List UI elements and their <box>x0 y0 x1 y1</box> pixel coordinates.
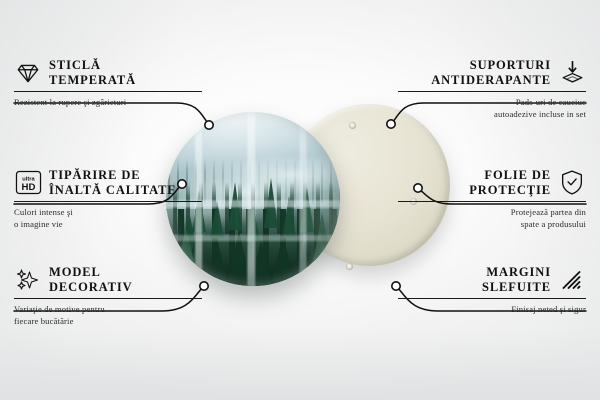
feature-subtitle: Protejează partea dinspate a produsului <box>398 206 586 230</box>
rubber-foot-pad <box>349 122 356 129</box>
press-pad-icon <box>558 59 586 87</box>
feature-subtitle: Rezistent la rupere şi zgârieturi <box>14 96 202 108</box>
sparkles-icon <box>14 266 42 294</box>
feature-title: MARGINISLEFUITE <box>482 265 551 295</box>
feature-title: FOLIE DEPROTECŢIE <box>469 168 551 198</box>
ultra-hd-icon: ultra HD <box>14 169 42 197</box>
feature-title: SUPORTURIANTIDERAPANTE <box>431 58 551 88</box>
feature-header: SUPORTURIANTIDERAPANTE <box>398 58 586 88</box>
feature-divider <box>398 91 586 92</box>
feature-header: FOLIE DEPROTECŢIE <box>398 168 586 198</box>
rubber-foot-pad <box>346 263 353 270</box>
feature-protective-film: FOLIE DEPROTECŢIE Protejează partea dins… <box>398 168 586 230</box>
feature-subtitle: Pads-uri de cauciucautoadezive incluse i… <box>398 96 586 120</box>
feature-divider <box>398 298 586 299</box>
diagonal-lines-icon <box>558 266 586 294</box>
feature-header: MARGINISLEFUITE <box>398 265 586 295</box>
feature-subtitle: Finisaj neted şi sigur <box>398 303 586 315</box>
feature-subtitle: Variaţie de motive pentrufiecare bucătăr… <box>14 303 202 327</box>
feature-divider <box>14 298 202 299</box>
feature-subtitle: Culori intense şio imagine vie <box>14 206 202 230</box>
diamond-icon <box>14 59 42 87</box>
feature-header: MODELDECORATIV <box>14 265 202 295</box>
feature-title: STICLĂTEMPERATĂ <box>49 58 136 88</box>
feature-header: STICLĂTEMPERATĂ <box>14 58 202 88</box>
svg-text:HD: HD <box>21 182 35 193</box>
feature-divider <box>14 201 202 202</box>
feature-anti-slip-supports: SUPORTURIANTIDERAPANTE Pads-uri de cauci… <box>398 58 586 120</box>
feature-title: MODELDECORATIV <box>49 265 133 295</box>
feature-divider <box>14 91 202 92</box>
feature-tempered-glass: STICLĂTEMPERATĂ Rezistent la rupere şi z… <box>14 58 202 108</box>
product-infographic: STICLĂTEMPERATĂ Rezistent la rupere şi z… <box>0 0 600 400</box>
feature-divider <box>398 201 586 202</box>
feature-high-quality-print: ultra HD TIPĂRIRE DEÎNALTĂ CALITATE Culo… <box>14 168 202 230</box>
feature-decorative-pattern: MODELDECORATIV Variaţie de motive pentru… <box>14 265 202 327</box>
feature-title: TIPĂRIRE DEÎNALTĂ CALITATE <box>49 168 177 198</box>
feature-polished-edges: MARGINISLEFUITE Finisaj neted şi sigur <box>398 265 586 315</box>
shield-check-icon <box>558 169 586 197</box>
feature-header: ultra HD TIPĂRIRE DEÎNALTĂ CALITATE <box>14 168 202 198</box>
